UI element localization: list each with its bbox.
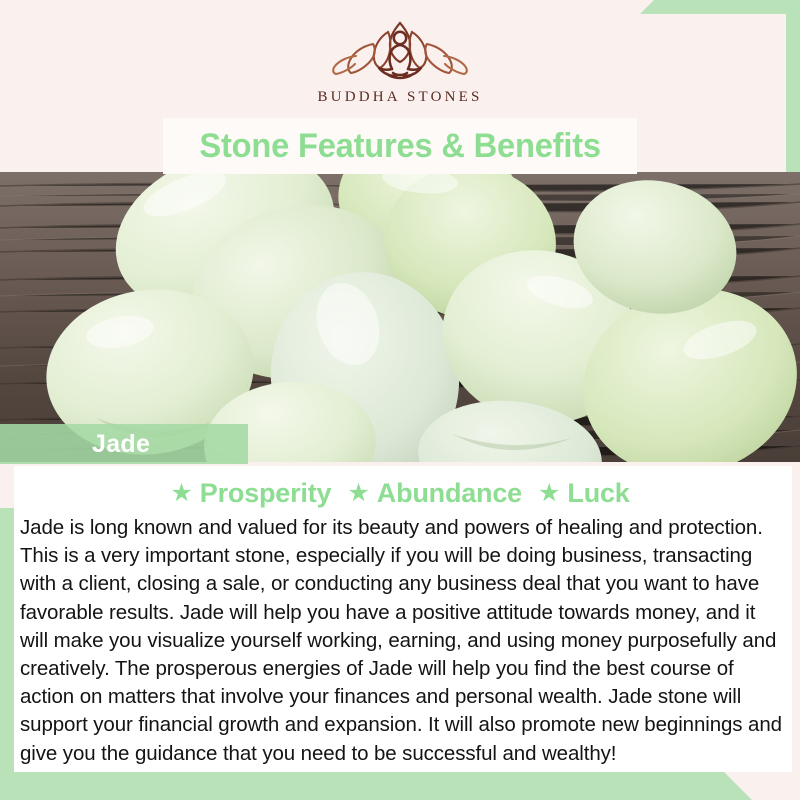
benefit-label: Prosperity <box>200 478 332 509</box>
benefit-item-luck: ★ Luck <box>538 478 630 509</box>
page-title: Stone Features & Benefits <box>199 127 600 166</box>
star-icon: ★ <box>538 481 560 506</box>
infographic-page: BUDDHA STONES <box>0 0 800 800</box>
stone-description: Jade is long known and valued for its be… <box>14 514 792 768</box>
brand-header: BUDDHA STONES <box>0 0 800 120</box>
benefit-item-abundance: ★ Abundance <box>347 478 522 509</box>
benefits-list: ★ Prosperity ★ Abundance ★ Luck <box>0 478 800 509</box>
section-title-banner: Stone Features & Benefits <box>163 118 637 174</box>
brand-name: BUDDHA STONES <box>317 89 482 106</box>
stone-name-text: Jade <box>92 430 150 459</box>
stone-name-label: Jade <box>0 424 248 464</box>
jade-tumbled-stones-photo <box>0 172 800 462</box>
decorative-band-left-text <box>0 508 14 768</box>
benefit-label: Abundance <box>377 478 522 509</box>
star-icon: ★ <box>347 481 369 506</box>
lotus-meditation-icon <box>325 15 475 85</box>
star-icon: ★ <box>170 481 192 506</box>
benefit-item-prosperity: ★ Prosperity <box>170 478 331 509</box>
benefit-label: Luck <box>567 478 629 509</box>
